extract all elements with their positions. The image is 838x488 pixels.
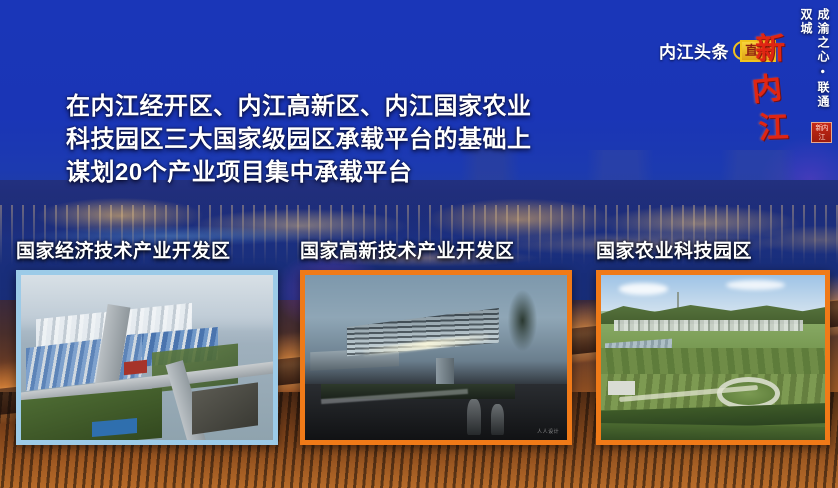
- photo-frame-2: 人人设计: [300, 270, 572, 445]
- station-calligraphy: 新 内 江: [730, 34, 807, 147]
- panel-agricultural-science-park: 国家农业科技园区: [596, 236, 836, 445]
- aerial-industrial-park-photo: [21, 275, 273, 440]
- headline-line-2: 科技园区三大国家级园区承载平台的基础上: [66, 123, 586, 156]
- photo-frame-1: [16, 270, 278, 445]
- calligraphy-char-3: 江: [758, 114, 789, 144]
- calligraphy-char-1: 新: [755, 36, 785, 65]
- panel-hi-tech-development-zone: 国家高新技术产业开发区 人人设计: [300, 236, 582, 445]
- headline-line-3: 谋划20个产业项目集中承载平台: [66, 156, 586, 189]
- program-label: 内江头条: [659, 38, 729, 63]
- panel-label-3: 国家农业科技园区: [596, 236, 836, 263]
- headline-line-1: 在内江经开区、内江高新区、内江国家农业: [66, 90, 586, 123]
- station-slogan: 成渝之心 • 联通双城: [798, 8, 832, 120]
- station-seal: 新内江: [811, 122, 832, 143]
- headline-block: 在内江经开区、内江高新区、内江国家农业 科技园区三大国家级园区承载平台的基础上 …: [66, 90, 586, 189]
- modern-building-rendering-photo: 人人设计: [305, 275, 567, 440]
- panel-label-1: 国家经济技术产业开发区: [16, 236, 288, 263]
- panel-economic-development-zone: 国家经济技术产业开发区: [16, 236, 288, 445]
- photo-frame-3: [596, 270, 830, 445]
- photo-watermark: 人人设计: [537, 428, 559, 435]
- calligraphy-char-2: 内: [751, 74, 784, 106]
- panel-label-2: 国家高新技术产业开发区: [300, 236, 582, 263]
- agricultural-park-photo: [601, 275, 825, 440]
- channel-bug: 内江头条 直播 新 内 江 成渝之心 • 联通双城 新内江: [638, 0, 838, 150]
- broadcast-frame: 内江头条 直播 新 内 江 成渝之心 • 联通双城 新内江 在内江经开区、内江高…: [0, 0, 838, 488]
- panel-row: 国家经济技术产业开发区 国家: [0, 236, 838, 488]
